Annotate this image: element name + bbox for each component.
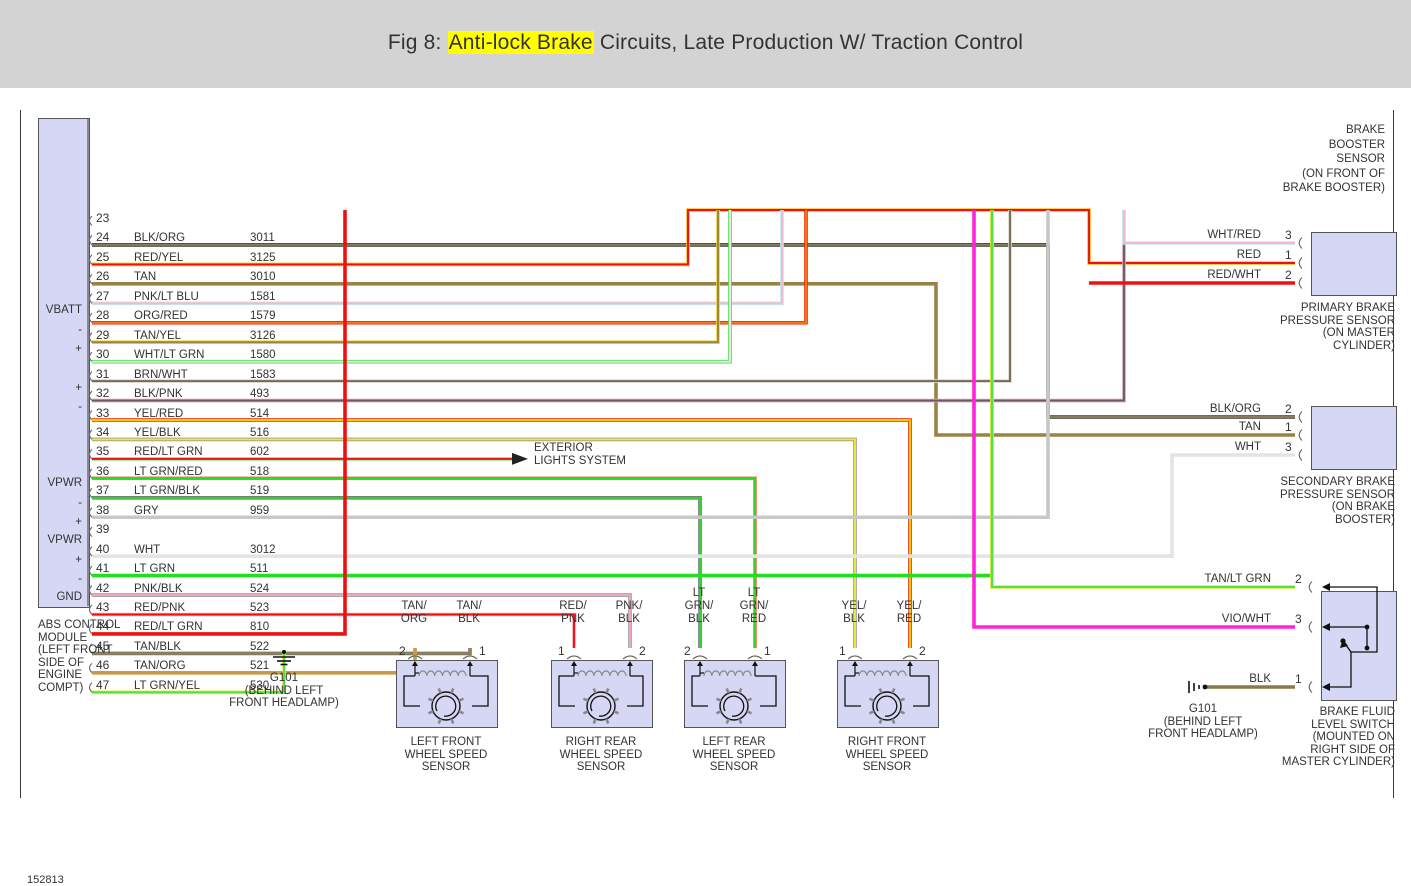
ground-symbol-g101-left (273, 650, 295, 665)
sensor-2-pin-1: 1 (764, 644, 771, 658)
abs-module-label-line-1: MODULE (38, 632, 87, 645)
abs-circuit-29: 3126 (250, 330, 276, 343)
abs-side-label-11: GND (0, 591, 82, 604)
abs-module-label-line-2: (LEFT FRONT (38, 644, 113, 657)
primary-brake-pressure-sensor-term-pin-1: 1 (1285, 248, 1292, 262)
abs-pin-number-47: 47 (96, 678, 109, 692)
brake-booster-sensor-label-line-4: BRAKE BOOSTER) (1130, 182, 1385, 195)
secondary-brake-pressure-sensor-term-pin-2: 2 (1285, 402, 1292, 416)
wheel-speed-sensor-symbol-0 (404, 656, 488, 724)
brake-fluid-level-switch-label-line-4: MASTER CYLINDER) (1145, 756, 1395, 769)
abs-pin-color-28: ORG/RED (134, 310, 188, 323)
figure-id: 152813 (27, 874, 64, 886)
brake-fluid-level-switch-label-line-1: LEVEL SWITCH (1145, 719, 1395, 732)
sensor-3-name-line-2: SENSOR (787, 761, 987, 774)
abs-pin-color-32: BLK/PNK (134, 388, 183, 401)
brake-fluid-level-switch-internals (1309, 582, 1377, 693)
brake-fluid-switch-term-pin-3: 3 (1295, 612, 1302, 626)
abs-side-label-3: + (0, 382, 82, 395)
abs-pin-number-38: 38 (96, 503, 109, 517)
abs-pin-color-25: RED/YEL (134, 252, 183, 265)
ground-g101-left-line-2: FRONT HEADLAMP) (184, 697, 384, 710)
secondary-brake-pressure-sensor-label-line-1: PRESSURE SENSOR (1145, 489, 1395, 502)
page-title: Fig 8: Anti-lock Brake Circuits, Late Pr… (0, 31, 1411, 55)
abs-pin-number-43: 43 (96, 600, 109, 614)
abs-module-label-line-3: SIDE OF (38, 657, 84, 670)
abs-pin-number-41: 41 (96, 561, 109, 575)
abs-circuit-31: 1583 (250, 369, 276, 382)
abs-pin-color-42: PNK/BLK (134, 583, 183, 596)
diagram-canvas: 2324BLK/ORG301125RED/YEL312526TAN301027P… (0, 88, 1411, 827)
abs-pin-number-23: 23 (96, 211, 109, 225)
abs-circuit-36: 518 (250, 466, 269, 479)
abs-side-label-2: + (0, 343, 82, 356)
brake-fluid-switch-term-pin-2: 2 (1295, 572, 1302, 586)
abs-pin-number-24: 24 (96, 230, 109, 244)
secondary-brake-pressure-sensor-term-color-1: TAN (1081, 421, 1261, 434)
secondary-brake-pressure-sensor-term-color-3: WHT (1081, 441, 1261, 454)
abs-circuit-40: 3012 (250, 544, 276, 557)
abs-pin-color-45: TAN/BLK (134, 641, 181, 654)
abs-pin-color-40: WHT (134, 544, 160, 557)
secondary-brake-pressure-sensor-term-color-2: BLK/ORG (1081, 403, 1261, 416)
brake-booster-sensor-label-line-0: BRAKE (1130, 124, 1385, 137)
abs-pin-number-30: 30 (96, 347, 109, 361)
primary-brake-pressure-sensor-label-line-1: PRESSURE SENSOR (1145, 315, 1395, 328)
abs-side-label-4: - (0, 401, 82, 414)
abs-pin-color-26: TAN (134, 271, 156, 284)
abs-pin-color-34: YEL/BLK (134, 427, 181, 440)
primary-brake-pressure-sensor-label-line-3: CYLINDER) (1145, 340, 1395, 353)
sensor-0-pin-2: 2 (399, 644, 406, 658)
sensor-1-pin-2: 2 (639, 644, 646, 658)
abs-module-label-line-4: ENGINE (38, 669, 82, 682)
brake-fluid-level-switch-label-line-3: RIGHT SIDE OF (1145, 744, 1395, 757)
secondary-brake-pressure-sensor-terminals (1299, 412, 1302, 461)
abs-pin-number-42: 42 (96, 581, 109, 595)
abs-pin-number-28: 28 (96, 308, 109, 322)
abs-pin-number-33: 33 (96, 406, 109, 420)
brake-fluid-level-switch-label-line-0: BRAKE FLUID (1145, 706, 1395, 719)
sensor-2-right-label-0: LT (654, 587, 854, 600)
wheel-speed-sensor-symbol-2 (692, 656, 776, 724)
abs-pin-color-46: TAN/ORG (134, 660, 186, 673)
brake-fluid-switch-term-color-1: BLK (1091, 673, 1271, 686)
primary-brake-pressure-sensor-term-pin-3: 3 (1285, 228, 1292, 242)
abs-side-label-6: - (0, 497, 82, 510)
primary-brake-pressure-sensor-label-line-2: (ON MASTER (1145, 327, 1395, 340)
sensor-1-pin-1: 1 (558, 644, 565, 658)
abs-pin-number-31: 31 (96, 367, 109, 381)
sensor-3-name-line-1: WHEEL SPEED (787, 749, 987, 762)
abs-side-label-10: - (0, 573, 82, 586)
brake-fluid-switch-term-pin-1: 1 (1295, 672, 1302, 686)
abs-pin-number-27: 27 (96, 289, 109, 303)
abs-pin-number-40: 40 (96, 542, 109, 556)
abs-pin-color-38: GRY (134, 505, 159, 518)
secondary-brake-pressure-sensor-term-pin-1: 1 (1285, 420, 1292, 434)
abs-pin-color-33: YEL/RED (134, 408, 183, 421)
sensor-3-pin-2: 2 (919, 644, 926, 658)
brake-fluid-switch-term-color-3: VIO/WHT (1091, 613, 1271, 626)
sensor-3-right-label-0: YEL/ (809, 600, 1009, 613)
abs-pin-color-29: TAN/YEL (134, 330, 181, 343)
abs-pin-number-46: 46 (96, 658, 109, 672)
abs-circuit-28: 1579 (250, 310, 276, 323)
abs-pin-number-26: 26 (96, 269, 109, 283)
abs-circuit-45: 522 (250, 641, 269, 654)
abs-circuit-30: 1580 (250, 349, 276, 362)
abs-circuit-24: 3011 (250, 232, 275, 245)
abs-circuit-26: 3010 (250, 271, 276, 284)
abs-pin-color-30: WHT/LT GRN (134, 349, 205, 362)
wheel-speed-sensor-symbol-1 (559, 656, 643, 724)
abs-pin-color-43: RED/PNK (134, 602, 185, 615)
abs-pin-color-44: RED/LT GRN (134, 621, 203, 634)
abs-pin-color-35: RED/LT GRN (134, 446, 203, 459)
exterior-lights-label-line-0: EXTERIOR (534, 442, 593, 455)
primary-brake-pressure-sensor-term-pin-2: 2 (1285, 268, 1292, 282)
abs-pin-color-24: BLK/ORG (134, 232, 185, 245)
ground-g101-left-line-0: G101 (184, 672, 384, 685)
abs-pin-number-37: 37 (96, 483, 109, 497)
abs-pin-number-32: 32 (96, 386, 109, 400)
abs-circuit-41: 511 (250, 563, 268, 576)
title-suffix: Circuits, Late Production W/ Traction Co… (594, 31, 1023, 54)
secondary-brake-pressure-sensor-label-line-2: (ON BRAKE (1145, 501, 1395, 514)
ground-g101-left-line-1: (BEHIND LEFT (184, 685, 384, 698)
primary-brake-pressure-sensor-label-line-0: PRIMARY BRAKE (1145, 302, 1395, 315)
brake-booster-sensor-label-line-1: BOOSTER (1130, 139, 1385, 152)
abs-circuit-35: 602 (250, 446, 269, 459)
sensor-2-pin-2: 2 (684, 644, 691, 658)
abs-pin-number-39: 39 (96, 522, 109, 536)
brake-booster-sensor-label-line-3: (ON FRONT OF (1130, 168, 1385, 181)
abs-side-label-7: + (0, 516, 82, 529)
abs-pin-color-31: BRN/WHT (134, 369, 188, 382)
abs-circuit-44: 810 (250, 621, 269, 634)
abs-circuit-43: 523 (250, 602, 269, 615)
abs-pin-number-36: 36 (96, 464, 109, 478)
brake-fluid-level-switch-label-line-2: (MOUNTED ON (1145, 731, 1395, 744)
abs-circuit-27: 1581 (250, 291, 276, 304)
title-bar: Fig 8: Anti-lock Brake Circuits, Late Pr… (0, 0, 1411, 88)
secondary-brake-pressure-sensor-label-line-3: BOOSTER) (1145, 514, 1395, 527)
primary-brake-pressure-sensor-term-color-2: RED/WHT (1081, 269, 1261, 282)
exterior-lights-label-line-1: LIGHTS SYSTEM (534, 455, 626, 468)
abs-side-label-9: + (0, 554, 82, 567)
sensor-3-pin-1: 1 (839, 644, 846, 658)
brake-booster-sensor-label-line-2: SENSOR (1130, 153, 1385, 166)
primary-brake-pressure-sensor-terminals (1299, 238, 1302, 289)
sensor-3-name-line-0: RIGHT FRONT (787, 736, 987, 749)
brake-fluid-switch-term-color-2: TAN/LT GRN (1091, 573, 1271, 586)
title-highlight: Anti-lock Brake (448, 31, 594, 54)
abs-side-label-0: VBATT (0, 304, 82, 317)
abs-pin-number-34: 34 (96, 425, 109, 439)
abs-pin-color-41: LT GRN (134, 563, 175, 576)
primary-brake-pressure-sensor-term-color-3: WHT/RED (1081, 229, 1261, 242)
primary-brake-pressure-sensor-term-color-1: RED (1081, 249, 1261, 262)
abs-pin-number-29: 29 (96, 328, 109, 342)
secondary-brake-pressure-sensor-label-line-0: SECONDARY BRAKE (1145, 476, 1395, 489)
abs-circuit-34: 516 (250, 427, 269, 440)
abs-side-label-8: VPWR (0, 534, 82, 547)
abs-circuit-42: 524 (250, 583, 269, 596)
wheel-speed-sensor-symbol-3 (845, 656, 929, 724)
sensor-0-pin-1: 1 (479, 644, 486, 658)
abs-module-label-line-5: COMPT) (38, 682, 83, 695)
abs-circuit-32: 493 (250, 388, 269, 401)
abs-side-label-1: - (0, 324, 82, 337)
abs-pin-number-25: 25 (96, 250, 109, 264)
abs-pin-color-36: LT GRN/RED (134, 466, 203, 479)
abs-pin-color-27: PNK/LT BLU (134, 291, 199, 304)
abs-pin-number-35: 35 (96, 444, 109, 458)
abs-circuit-33: 514 (250, 408, 269, 421)
abs-circuit-38: 959 (250, 505, 269, 518)
secondary-brake-pressure-sensor-term-pin-3: 3 (1285, 440, 1292, 454)
abs-circuit-25: 3125 (250, 252, 276, 265)
exterior-lights-arrow (512, 453, 528, 465)
abs-circuit-37: 519 (250, 485, 269, 498)
abs-pin-color-37: LT GRN/BLK (134, 485, 200, 498)
abs-module-label-line-0: ABS CONTROL (38, 619, 120, 632)
abs-side-label-5: VPWR (0, 477, 82, 490)
title-prefix: Fig 8: (388, 31, 448, 54)
sensor-3-right-label-1: RED (809, 613, 1009, 626)
